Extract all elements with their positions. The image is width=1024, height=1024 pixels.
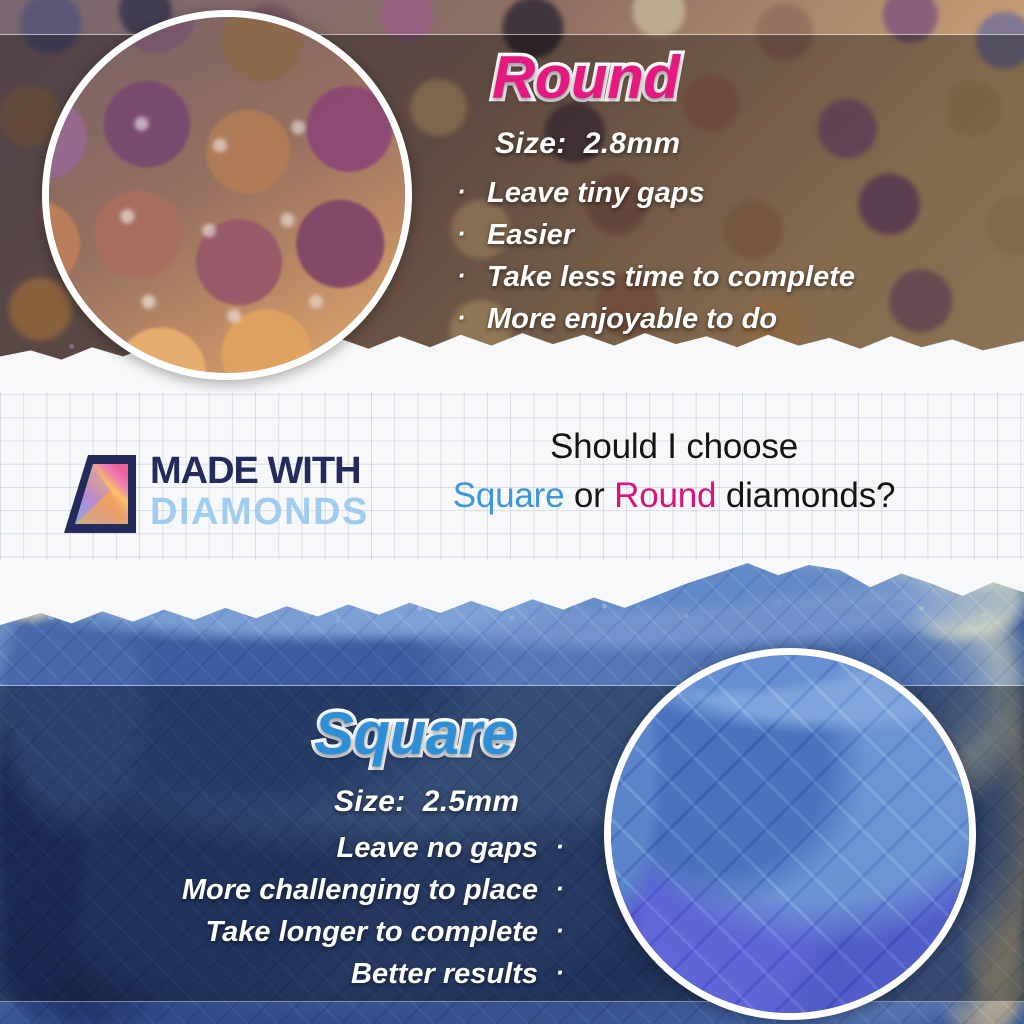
list-item-label: Leave tiny gaps — [487, 177, 705, 209]
list-item-label: Take longer to complete — [206, 916, 539, 948]
list-item: ·More enjoyable to do — [457, 297, 855, 339]
brand-logo: MADE WITH DIAMONDS — [62, 451, 392, 537]
round-feature-list: ·Leave tiny gaps ·Easier ·Take less time… — [457, 171, 855, 339]
square-feature-list: Leave no gaps· More challenging to place… — [124, 826, 564, 994]
infographic-canvas: Round Size: 2.8mm ·Leave tiny gaps ·Easi… — [0, 0, 1024, 1024]
logo-line-1: MADE WITH — [150, 451, 400, 492]
question-line-1: Should I choose — [424, 422, 924, 471]
square-title: Square — [314, 704, 514, 764]
round-magnifier-lens — [42, 10, 412, 380]
question-or-word: or — [564, 476, 614, 515]
question-square-word: Square — [453, 476, 565, 515]
list-item-label: More enjoyable to do — [487, 303, 777, 335]
square-lens-highlights — [611, 655, 969, 1013]
list-item-label: Better results — [351, 958, 538, 990]
round-size-label: Size: 2.8mm — [495, 127, 680, 161]
square-size-label: Size: 2.5mm — [334, 785, 519, 819]
list-item: Take longer to complete· — [124, 910, 564, 952]
list-item-label: Leave no gaps — [337, 832, 538, 864]
list-item-label: Easier — [487, 219, 574, 251]
list-item-label: More challenging to place — [182, 874, 538, 906]
question-round-word: Round — [614, 476, 716, 515]
list-item: ·Take less time to complete — [457, 255, 855, 297]
logo-wordmark: MADE WITH DIAMONDS — [150, 451, 400, 533]
list-item: Better results· — [124, 952, 564, 994]
square-magnifier-lens — [604, 648, 976, 1020]
bullet-glyph: · — [457, 171, 487, 211]
list-item-label: Take less time to complete — [487, 261, 855, 293]
center-band: MADE WITH DIAMONDS Should I choose Squar… — [0, 392, 1024, 568]
bullet-glyph: · — [538, 910, 564, 950]
list-item: ·Leave tiny gaps — [457, 171, 855, 213]
list-item: More challenging to place· — [124, 868, 564, 910]
bullet-glyph: · — [538, 826, 564, 866]
question-tail: diamonds? — [716, 476, 895, 515]
round-lens-highlights — [49, 17, 405, 373]
bullet-glyph: · — [457, 297, 487, 337]
question-heading: Should I choose Square or Round diamonds… — [424, 422, 924, 520]
bullet-glyph: · — [538, 868, 564, 908]
bullet-glyph: · — [457, 255, 487, 295]
diamond-logo-icon — [62, 453, 138, 535]
logo-line-2: DIAMONDS — [150, 492, 400, 533]
list-item: Leave no gaps· — [124, 826, 564, 868]
bullet-glyph: · — [538, 952, 564, 992]
list-item: ·Easier — [457, 213, 855, 255]
round-title: Round — [492, 48, 679, 108]
bullet-glyph: · — [457, 213, 487, 253]
